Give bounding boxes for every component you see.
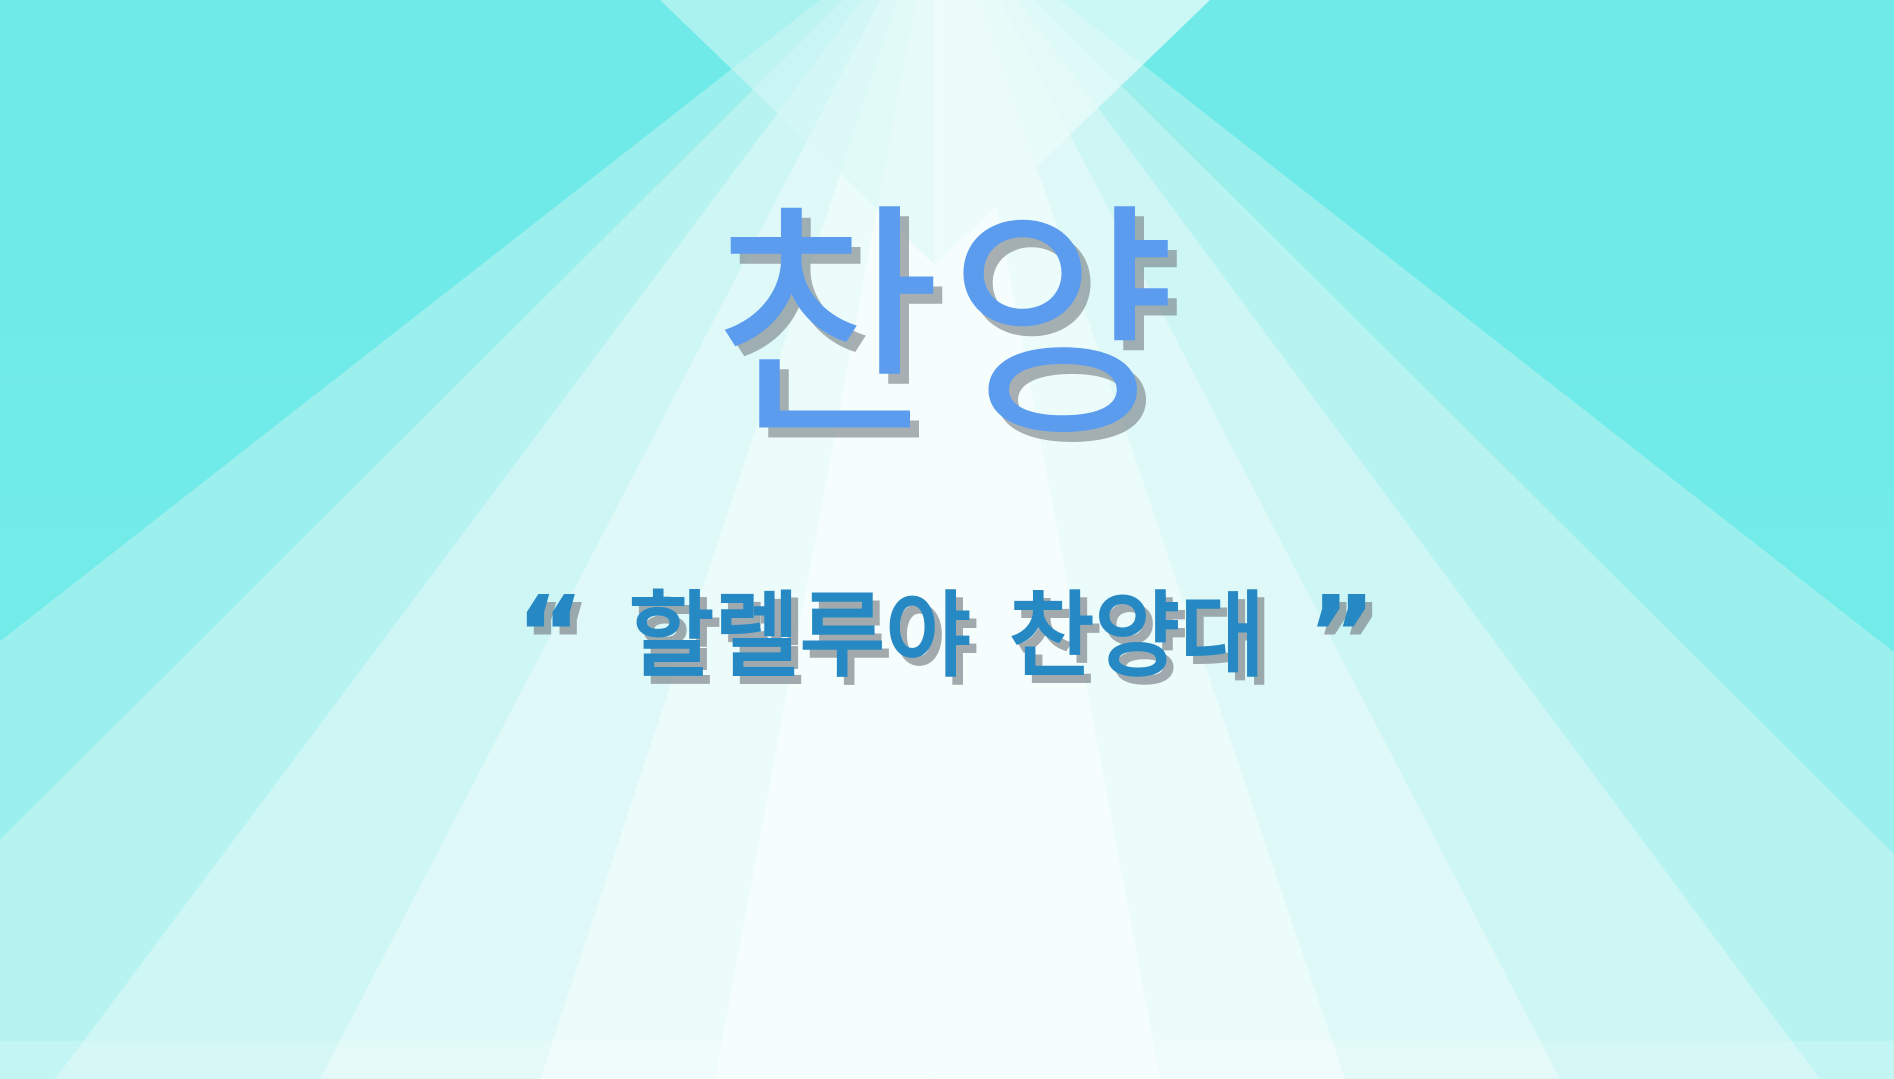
slide-title: 찬양 — [0, 196, 1894, 459]
slide-subtitle: “할렐루야찬양대” — [0, 577, 1894, 691]
slide-content: 찬양 “할렐루야찬양대” — [0, 0, 1894, 1079]
subtitle-word-2: 찬양대 — [1009, 582, 1266, 690]
open-quote-mark: “ — [516, 573, 586, 695]
subtitle-word-1: 할렐루야 — [629, 582, 971, 690]
presentation-slide: 찬양 “할렐루야찬양대” — [0, 0, 1894, 1079]
close-quote-mark: ” — [1307, 573, 1377, 695]
